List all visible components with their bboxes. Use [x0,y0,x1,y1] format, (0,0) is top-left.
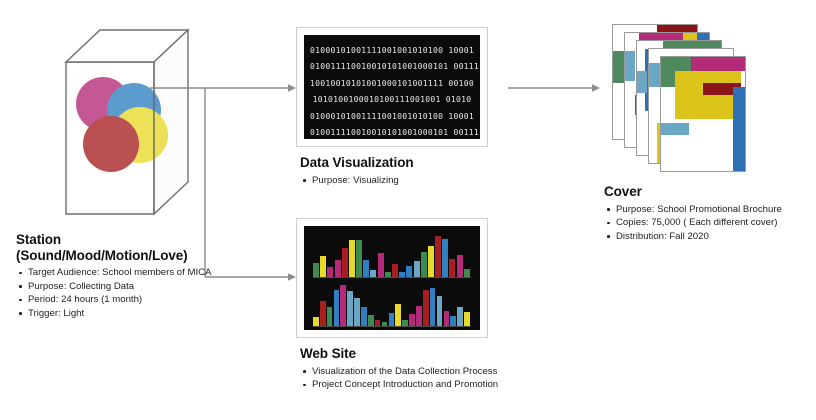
list-item: Visualization of the Data Collection Pro… [300,365,580,379]
bar [457,307,463,326]
color-block [625,51,635,81]
bar [363,260,369,277]
data-visualization-title: Data Visualization [300,155,530,171]
bar [327,267,333,277]
bar [450,316,456,326]
color-block [675,71,741,119]
bar [464,269,470,277]
bar [428,246,434,277]
bar [335,260,341,277]
binary-row: 10010010101001000101001111 00100 [310,75,474,91]
list-item: Project Concept Introduction and Promoti… [300,378,580,392]
bar-baseline [313,326,471,327]
cover-section: Cover Purpose: School Promotional Brochu… [604,184,816,243]
bars-canvas [304,226,480,330]
station-title-line2: (Sound/Mood/Motion/Love) [16,248,231,264]
bar [354,298,360,326]
bar [313,263,319,277]
bar [399,272,405,277]
web-site-image [296,218,488,338]
bar [375,320,381,326]
station-section: Station (Sound/Mood/Motion/Love) Target … [16,232,231,320]
arrowhead-to-dataviz [288,84,296,92]
bar [423,290,429,326]
color-block [733,87,746,172]
bars-wrap [304,226,480,330]
bar [464,312,470,326]
list-item: Trigger: Light [16,307,231,321]
bar [356,240,362,277]
bar [313,317,319,326]
web-site-title: Web Site [300,346,580,362]
list-item: Purpose: School Promotional Brochure [604,203,816,217]
color-block [637,71,647,93]
bar [368,315,374,326]
bar [409,314,415,326]
bar-baseline [313,277,471,278]
station-title-line1: Station [16,232,231,248]
list-item: Purpose: Collecting Data [16,280,231,294]
bar [370,270,376,277]
list-item: Target Audience: School members of MICA [16,266,231,280]
bar [402,320,408,326]
bar [320,256,326,277]
bar [361,307,367,326]
bar [457,255,463,277]
bar [347,291,353,326]
binary-row: 1010100100010100111001001 01010 [310,91,474,107]
bar [414,261,420,277]
bar-row-top [313,234,471,278]
binary-canvas: 01000101001111001001010100 10001 0100111… [304,35,480,139]
bar [435,236,441,277]
list-item: Distribution: Fall 2020 [604,230,816,244]
bar [327,307,333,326]
bar [349,240,355,277]
binary-row: 010011110010010101001000101 00111 [310,124,474,139]
bar [449,259,455,277]
station-bullets: Target Audience: School members of MICA … [16,266,231,320]
bar [320,301,326,326]
bar [340,285,346,326]
web-site-section: Web Site Visualization of the Data Colle… [300,346,580,392]
binary-row: 010011110010010101001000101 00111 [310,58,474,74]
bar [444,311,450,326]
arrowhead-to-website [288,273,296,281]
bar [378,253,384,277]
bar [395,304,401,326]
cover-title: Cover [604,184,816,200]
bar [416,306,422,326]
bar [406,266,412,277]
data-visualization-image: 01000101001111001001010100 10001 0100111… [296,27,488,147]
color-block [691,57,746,71]
web-site-bullets: Visualization of the Data Collection Pro… [300,365,580,392]
cover-bullets: Purpose: School Promotional Brochure Cop… [604,203,816,244]
bar [421,252,427,277]
binary-row: 01000101001111001001010100 10001 [310,108,474,124]
list-item: Period: 24 hours (1 month) [16,293,231,307]
bar [437,296,443,326]
bar [430,288,436,326]
bar-row-bottom [313,283,471,327]
data-visualization-section: Data Visualization Purpose: Visualizing [300,155,530,187]
list-item: Purpose: Visualizing [300,174,530,188]
binary-row: 01000101001111001001010100 10001 [310,42,474,58]
cover-sheet-front [660,56,746,172]
data-visualization-bullets: Purpose: Visualizing [300,174,530,188]
bar [392,264,398,277]
cover-stack-illustration [600,18,760,176]
bar [342,248,348,277]
bar [385,272,391,277]
bar [334,290,340,326]
bar [382,322,388,326]
list-item: Copies: 75,000 ( Each different cover) [604,216,816,230]
bar [389,313,395,326]
bar [442,239,448,277]
color-block [661,123,689,135]
arrowhead-to-cover [592,84,600,92]
